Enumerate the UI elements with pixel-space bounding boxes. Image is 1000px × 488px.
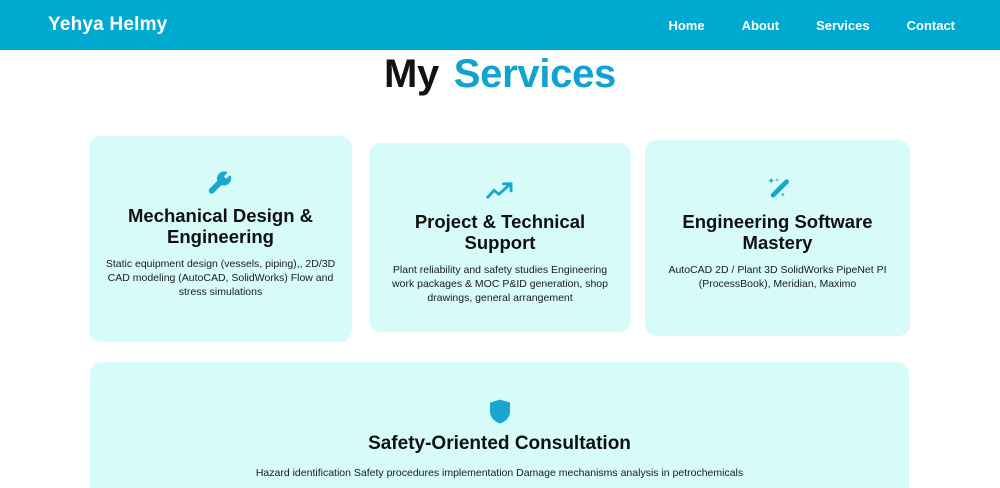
service-card-title: Safety-Oriented Consultation [106, 433, 893, 455]
service-card-safety-consultation[interactable]: Safety-Oriented Consultation Hazard iden… [90, 362, 909, 488]
service-card-title: Mechanical Design & Engineering [105, 205, 336, 248]
wrench-icon [105, 170, 336, 197]
service-card-description: AutoCAD 2D / Plant 3D SolidWorks PipeNet… [661, 263, 894, 291]
site-header: Yehya Helmy Home About Services Contact [0, 0, 1000, 50]
service-card-software-mastery[interactable]: Engineering Software Mastery AutoCAD 2D … [645, 140, 910, 336]
service-card-description: Static equipment design (vessels, piping… [105, 257, 336, 300]
nav-link-about[interactable]: About [742, 18, 780, 33]
page-title-part1: My [384, 52, 439, 96]
service-card-title: Project & Technical Support [385, 211, 615, 254]
nav-link-home[interactable]: Home [668, 18, 704, 33]
page-title: My Services [0, 52, 1000, 97]
service-card-description: Plant reliability and safety studies Eng… [385, 263, 615, 306]
nav-link-services[interactable]: Services [816, 18, 870, 33]
nav-link-contact[interactable]: Contact [907, 18, 955, 33]
main-navigation: Home About Services Contact [668, 18, 955, 33]
service-card-mechanical-design[interactable]: Mechanical Design & Engineering Static e… [89, 136, 352, 342]
page-title-part2: Services [454, 52, 616, 96]
magic-wand-icon [661, 176, 894, 203]
shield-icon [106, 399, 893, 424]
trending-up-icon [385, 181, 615, 203]
brand-logo[interactable]: Yehya Helmy [48, 14, 167, 36]
service-card-title: Engineering Software Mastery [661, 211, 894, 254]
service-card-description: Hazard identification Safety procedures … [106, 466, 893, 480]
service-card-project-support[interactable]: Project & Technical Support Plant reliab… [369, 143, 631, 332]
